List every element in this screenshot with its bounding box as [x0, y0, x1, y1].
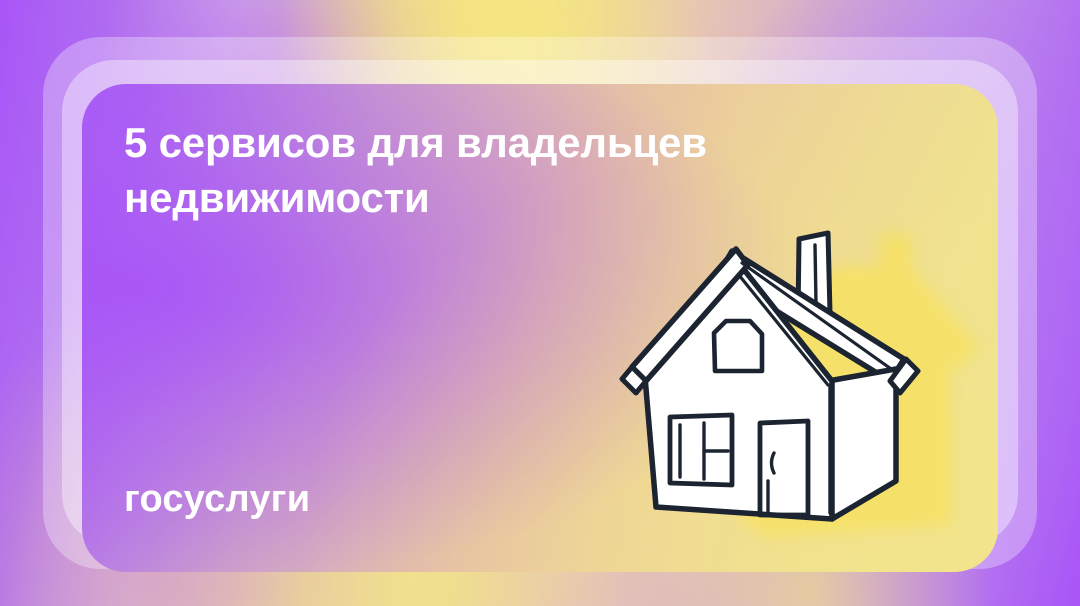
main-card: 5 сервисов для владельцев недвижимости г…: [82, 84, 998, 572]
promo-banner: 5 сервисов для владельцев недвижимости г…: [0, 0, 1080, 606]
gosuslugi-logo: госуслуги: [124, 480, 310, 518]
house-icon: [622, 229, 998, 572]
house-illustration: [622, 229, 998, 572]
page-title: 5 сервисов для владельцев недвижимости: [124, 116, 824, 225]
